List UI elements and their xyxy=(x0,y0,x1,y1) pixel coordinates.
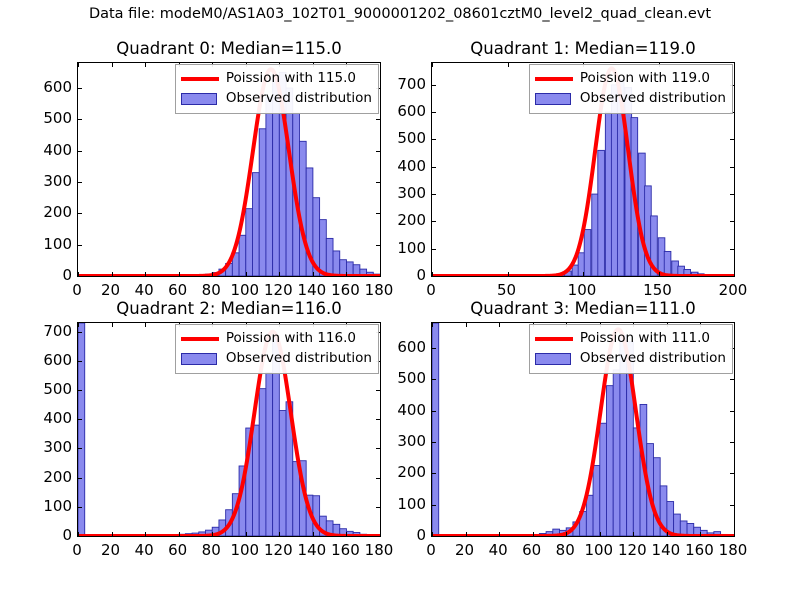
x-axis-tick-mark xyxy=(246,272,247,276)
legend-quadrant-2: Poission with 116.0 Observed distributio… xyxy=(175,324,379,374)
x-axis-tick-mark xyxy=(508,272,509,276)
y-axis-tick-label: 0 xyxy=(62,526,72,544)
y-axis-tick-label: 300 xyxy=(397,184,426,202)
x-axis-tick-mark xyxy=(432,323,433,327)
subplot-title-quadrant-0: Quadrant 0: Median=115.0 xyxy=(77,39,381,58)
y-axis-tick-label: 200 xyxy=(397,463,426,481)
histogram-bar xyxy=(259,129,266,276)
histogram-bar xyxy=(598,150,605,276)
y-axis-tick-mark xyxy=(432,276,436,277)
y-axis-tick-label: 400 xyxy=(397,157,426,175)
x-axis-tick-label: 0 xyxy=(72,281,82,299)
x-axis-tick-mark xyxy=(380,532,381,536)
y-axis-tick-mark xyxy=(78,332,82,333)
x-axis-tick-label: 20 xyxy=(101,541,120,559)
x-axis-tick-mark xyxy=(432,532,433,536)
x-axis-tick-label: 160 xyxy=(331,541,360,559)
x-axis-tick-label: 60 xyxy=(168,541,187,559)
y-axis-tick-label: 0 xyxy=(416,266,426,284)
x-axis-tick-mark xyxy=(313,272,314,276)
x-axis-tick-label: 160 xyxy=(331,281,360,299)
y-axis-tick-mark xyxy=(78,182,82,183)
y-axis-tick-mark xyxy=(432,167,436,168)
y-axis-tick-mark xyxy=(730,249,734,250)
histogram-bar xyxy=(584,230,591,276)
legend-label-poisson: Poission with 111.0 xyxy=(580,332,710,346)
y-axis-tick-label: 200 xyxy=(43,468,72,486)
y-axis-tick-label: 100 xyxy=(397,239,426,257)
x-axis-tick-mark xyxy=(279,272,280,276)
legend-label-observed: Observed distribution xyxy=(580,352,726,366)
x-axis-tick-label: 120 xyxy=(264,281,293,299)
legend-entry-observed: Observed distribution xyxy=(181,89,372,109)
y-axis-tick-label: 500 xyxy=(397,129,426,147)
y-axis-tick-mark xyxy=(78,390,82,391)
x-axis-tick-label: 180 xyxy=(365,541,394,559)
x-axis-tick-label: 50 xyxy=(497,281,516,299)
x-axis-tick-mark xyxy=(583,272,584,276)
y-axis-tick-mark xyxy=(432,442,436,443)
x-axis-tick-mark xyxy=(499,323,500,327)
y-axis-tick-mark xyxy=(432,379,436,380)
y-axis-tick-label: 600 xyxy=(397,338,426,356)
matplotlib-figure: Data file: modeM0/AS1A03_102T01_90000012… xyxy=(0,0,800,600)
y-axis-tick-mark xyxy=(730,536,734,537)
subplot-quadrant-0: Quadrant 0: Median=115.0 Poission with 1… xyxy=(77,62,381,277)
y-axis-tick-label: 100 xyxy=(43,235,72,253)
poisson-line-swatch-icon xyxy=(181,72,219,86)
x-axis-tick-label: 180 xyxy=(719,541,748,559)
y-axis-tick-mark xyxy=(730,442,734,443)
histogram-bar xyxy=(259,389,266,536)
y-axis-tick-mark xyxy=(78,419,82,420)
y-axis-tick-mark xyxy=(376,182,380,183)
y-axis-tick-mark xyxy=(432,139,436,140)
y-axis-tick-mark xyxy=(78,478,82,479)
x-axis-tick-label: 160 xyxy=(685,541,714,559)
x-axis-tick-mark xyxy=(466,532,467,536)
x-axis-tick-label: 150 xyxy=(643,281,672,299)
x-axis-tick-label: 120 xyxy=(618,541,647,559)
x-axis-tick-label: 0 xyxy=(426,541,436,559)
histogram-bar xyxy=(246,209,253,276)
y-axis-tick-label: 400 xyxy=(397,401,426,419)
x-axis-tick-mark xyxy=(179,272,180,276)
x-axis-tick-mark xyxy=(633,532,634,536)
x-axis-tick-mark xyxy=(112,323,113,327)
y-axis-tick-label: 300 xyxy=(397,432,426,450)
subplot-quadrant-1: Quadrant 1: Median=119.0 Poission with 1… xyxy=(431,62,735,277)
legend-label-observed: Observed distribution xyxy=(226,92,372,106)
y-axis-tick-label: 0 xyxy=(416,526,426,544)
y-axis-tick-label: 400 xyxy=(43,141,72,159)
x-axis-tick-label: 60 xyxy=(522,541,541,559)
histogram-bar xyxy=(266,373,273,536)
y-axis-tick-mark xyxy=(432,411,436,412)
histogram-bar xyxy=(613,370,620,536)
observed-patch-swatch-icon xyxy=(535,92,573,106)
y-axis-tick-mark xyxy=(376,448,380,449)
y-axis-tick-label: 700 xyxy=(43,322,72,340)
x-axis-tick-mark xyxy=(432,63,433,67)
x-axis-tick-label: 100 xyxy=(568,281,597,299)
x-axis-tick-mark xyxy=(380,323,381,327)
y-axis-tick-label: 600 xyxy=(43,351,72,369)
y-axis-tick-mark xyxy=(376,507,380,508)
x-axis-tick-label: 180 xyxy=(365,281,394,299)
x-axis-tick-label: 40 xyxy=(135,281,154,299)
legend-quadrant-3: Poission with 111.0 Observed distributio… xyxy=(529,324,733,374)
x-axis-tick-label: 40 xyxy=(489,541,508,559)
x-axis-tick-mark xyxy=(380,272,381,276)
y-axis-tick-mark xyxy=(78,536,82,537)
y-axis-tick-mark xyxy=(376,276,380,277)
x-axis-tick-mark xyxy=(346,272,347,276)
subplot-title-quadrant-1: Quadrant 1: Median=119.0 xyxy=(431,39,735,58)
y-axis-tick-mark xyxy=(78,151,82,152)
x-axis-tick-mark xyxy=(145,323,146,327)
y-axis-tick-mark xyxy=(376,151,380,152)
x-axis-tick-mark xyxy=(508,63,509,67)
y-axis-tick-mark xyxy=(78,448,82,449)
y-axis-tick-label: 0 xyxy=(62,266,72,284)
histogram-bar xyxy=(593,466,600,536)
legend-entry-poisson: Poission with 119.0 xyxy=(535,69,726,89)
x-axis-tick-mark xyxy=(246,532,247,536)
observed-patch-swatch-icon xyxy=(181,92,219,106)
y-axis-tick-mark xyxy=(730,167,734,168)
y-axis-tick-mark xyxy=(432,536,436,537)
y-axis-tick-mark xyxy=(730,505,734,506)
x-axis-tick-label: 140 xyxy=(298,541,327,559)
histogram-bar xyxy=(600,423,607,536)
x-axis-tick-label: 100 xyxy=(584,541,613,559)
y-axis-tick-label: 600 xyxy=(397,102,426,120)
y-axis-tick-mark xyxy=(78,119,82,120)
x-axis-tick-mark xyxy=(667,532,668,536)
x-axis-tick-label: 200 xyxy=(719,281,748,299)
x-axis-tick-label: 60 xyxy=(168,281,187,299)
histogram-bar xyxy=(586,495,593,536)
y-axis-tick-label: 100 xyxy=(397,495,426,513)
y-axis-tick-mark xyxy=(432,194,436,195)
histogram-bar xyxy=(279,411,286,536)
x-axis-tick-mark xyxy=(700,532,701,536)
histogram-bar xyxy=(299,141,306,276)
y-axis-tick-label: 700 xyxy=(397,75,426,93)
observed-patch-swatch-icon xyxy=(181,352,219,366)
x-axis-tick-mark xyxy=(212,272,213,276)
x-axis-tick-mark xyxy=(112,63,113,67)
y-axis-tick-mark xyxy=(730,473,734,474)
x-axis-tick-label: 40 xyxy=(135,541,154,559)
legend-entry-poisson: Poission with 115.0 xyxy=(181,69,372,89)
x-axis-tick-mark xyxy=(212,532,213,536)
histogram-bar xyxy=(320,220,327,276)
y-axis-tick-mark xyxy=(78,361,82,362)
y-axis-tick-mark xyxy=(432,249,436,250)
x-axis-tick-label: 140 xyxy=(298,281,327,299)
poisson-line-swatch-icon xyxy=(181,332,219,346)
x-axis-tick-mark xyxy=(346,532,347,536)
x-axis-tick-label: 140 xyxy=(652,541,681,559)
y-axis-tick-mark xyxy=(376,478,380,479)
x-axis-tick-mark xyxy=(600,532,601,536)
x-axis-tick-label: 20 xyxy=(455,541,474,559)
histogram-bar xyxy=(340,260,347,276)
legend-entry-observed: Observed distribution xyxy=(181,349,372,369)
legend-entry-poisson: Poission with 111.0 xyxy=(535,329,726,349)
observed-patch-swatch-icon xyxy=(535,352,573,366)
y-axis-tick-mark xyxy=(730,276,734,277)
x-axis-tick-label: 80 xyxy=(556,541,575,559)
x-axis-tick-mark xyxy=(533,532,534,536)
x-axis-tick-mark xyxy=(380,63,381,67)
y-axis-tick-mark xyxy=(730,194,734,195)
y-axis-tick-mark xyxy=(432,348,436,349)
y-axis-tick-mark xyxy=(730,221,734,222)
x-axis-tick-mark xyxy=(734,63,735,67)
legend-label-observed: Observed distribution xyxy=(580,92,726,106)
x-axis-tick-label: 0 xyxy=(426,281,436,299)
x-axis-tick-mark xyxy=(78,63,79,67)
legend-label-poisson: Poission with 119.0 xyxy=(580,72,710,86)
x-axis-tick-label: 120 xyxy=(264,541,293,559)
x-axis-tick-label: 20 xyxy=(101,281,120,299)
histogram-bar xyxy=(606,386,613,536)
x-axis-tick-mark xyxy=(78,323,79,327)
histogram-bar xyxy=(346,262,353,276)
y-axis-tick-mark xyxy=(432,473,436,474)
x-axis-tick-mark xyxy=(78,272,79,276)
x-axis-tick-mark xyxy=(734,323,735,327)
x-axis-tick-mark xyxy=(466,323,467,327)
y-axis-tick-mark xyxy=(432,85,436,86)
subplot-title-quadrant-2: Quadrant 2: Median=116.0 xyxy=(77,299,381,318)
legend-entry-poisson: Poission with 116.0 xyxy=(181,329,372,349)
poisson-line-swatch-icon xyxy=(535,332,573,346)
y-axis-tick-mark xyxy=(730,411,734,412)
y-axis-tick-label: 500 xyxy=(43,109,72,127)
y-axis-tick-mark xyxy=(78,245,82,246)
x-axis-tick-mark xyxy=(432,272,433,276)
x-axis-tick-label: 80 xyxy=(202,281,221,299)
y-axis-tick-mark xyxy=(730,139,734,140)
x-axis-tick-mark xyxy=(659,272,660,276)
legend-quadrant-0: Poission with 115.0 Observed distributio… xyxy=(175,64,379,114)
legend-label-poisson: Poission with 115.0 xyxy=(226,72,356,86)
y-axis-tick-mark xyxy=(432,221,436,222)
figure-suptitle: Data file: modeM0/AS1A03_102T01_90000012… xyxy=(0,6,800,22)
x-axis-tick-label: 100 xyxy=(230,281,259,299)
y-axis-tick-mark xyxy=(376,419,380,420)
y-axis-tick-mark xyxy=(730,379,734,380)
subplot-title-quadrant-3: Quadrant 3: Median=111.0 xyxy=(431,299,735,318)
x-axis-tick-mark xyxy=(78,532,79,536)
x-axis-tick-mark xyxy=(279,532,280,536)
y-axis-tick-label: 500 xyxy=(397,369,426,387)
y-axis-tick-label: 400 xyxy=(43,409,72,427)
x-axis-tick-mark xyxy=(566,532,567,536)
x-axis-tick-mark xyxy=(112,532,113,536)
x-axis-tick-mark xyxy=(734,272,735,276)
legend-quadrant-1: Poission with 119.0 Observed distributio… xyxy=(529,64,733,114)
y-axis-tick-label: 100 xyxy=(43,497,72,515)
subplot-quadrant-3: Quadrant 3: Median=111.0 Poission with 1… xyxy=(431,322,735,537)
y-axis-tick-mark xyxy=(78,507,82,508)
y-axis-tick-label: 300 xyxy=(43,172,72,190)
y-axis-tick-label: 200 xyxy=(43,203,72,221)
legend-entry-observed: Observed distribution xyxy=(535,349,726,369)
y-axis-tick-label: 200 xyxy=(397,211,426,229)
histogram-bar xyxy=(252,173,259,276)
x-axis-tick-mark xyxy=(145,532,146,536)
y-axis-tick-mark xyxy=(78,213,82,214)
y-axis-tick-mark xyxy=(78,276,82,277)
x-axis-tick-mark xyxy=(499,532,500,536)
y-axis-tick-mark xyxy=(376,245,380,246)
legend-label-poisson: Poission with 116.0 xyxy=(226,332,356,346)
x-axis-tick-mark xyxy=(145,272,146,276)
y-axis-tick-mark xyxy=(432,505,436,506)
legend-label-observed: Observed distribution xyxy=(226,352,372,366)
y-axis-tick-label: 500 xyxy=(43,380,72,398)
y-axis-tick-mark xyxy=(376,119,380,120)
x-axis-tick-mark xyxy=(313,532,314,536)
y-axis-tick-mark xyxy=(78,88,82,89)
histogram-bar xyxy=(78,323,85,536)
histogram-bar xyxy=(239,235,246,276)
y-axis-tick-mark xyxy=(376,536,380,537)
x-axis-tick-mark xyxy=(112,272,113,276)
x-axis-tick-mark xyxy=(734,532,735,536)
x-axis-tick-label: 80 xyxy=(202,541,221,559)
legend-entry-observed: Observed distribution xyxy=(535,89,726,109)
y-axis-tick-mark xyxy=(432,112,436,113)
y-axis-tick-mark xyxy=(376,390,380,391)
poisson-line-swatch-icon xyxy=(535,72,573,86)
histogram-bar xyxy=(664,251,671,276)
histogram-bar xyxy=(266,97,273,276)
y-axis-tick-mark xyxy=(376,213,380,214)
y-axis-tick-label: 300 xyxy=(43,438,72,456)
subplot-quadrant-2: Quadrant 2: Median=116.0 Poission with 1… xyxy=(77,322,381,537)
x-axis-tick-mark xyxy=(179,532,180,536)
x-axis-tick-mark xyxy=(145,63,146,67)
histogram-bar xyxy=(333,251,340,276)
histogram-bar xyxy=(252,425,259,536)
histogram-bar xyxy=(326,238,333,276)
x-axis-tick-label: 0 xyxy=(72,541,82,559)
y-axis-tick-label: 600 xyxy=(43,78,72,96)
x-axis-tick-label: 100 xyxy=(230,541,259,559)
